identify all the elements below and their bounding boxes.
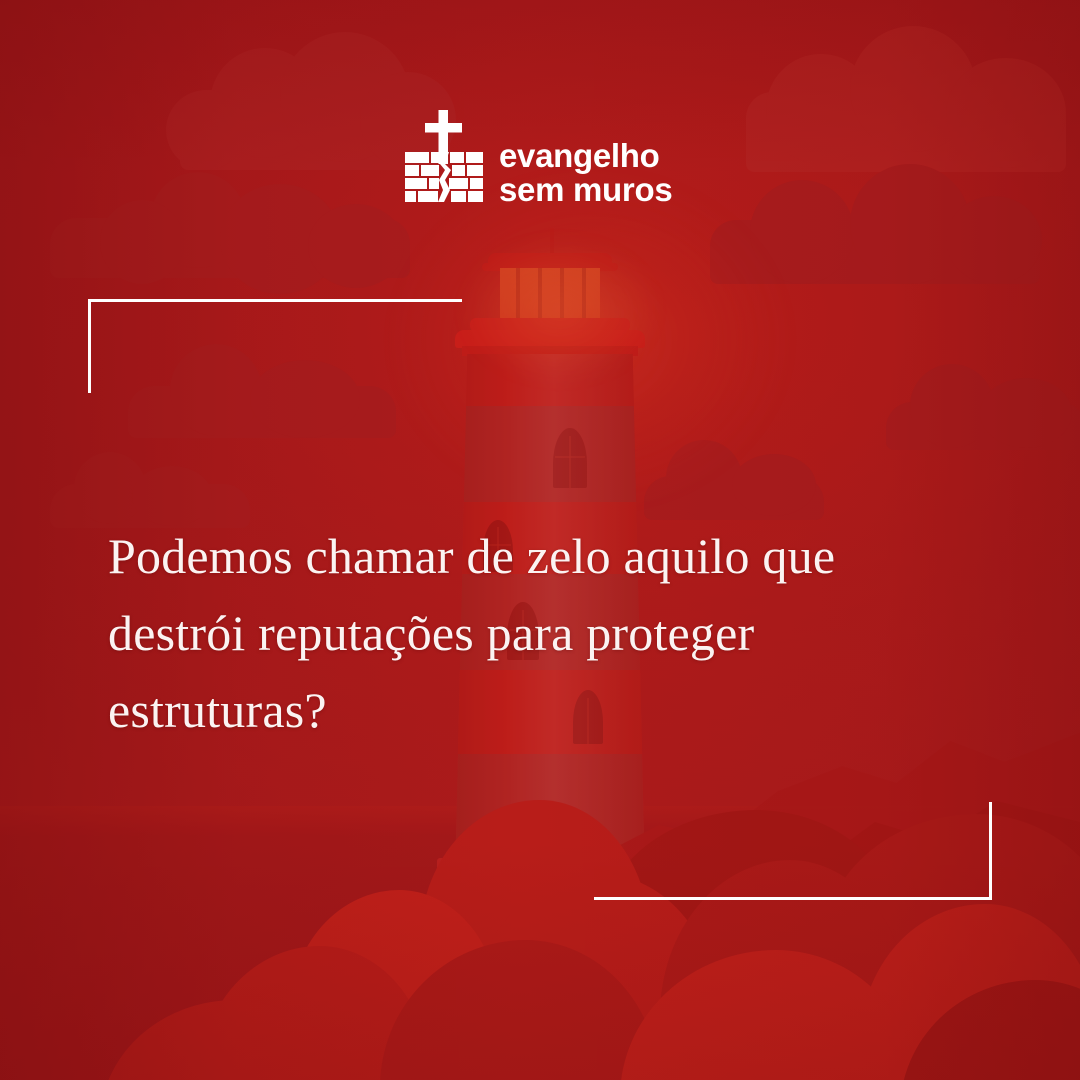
lantern-room bbox=[500, 268, 600, 320]
headline-text: Podemos chamar de zelo aquilo que destró… bbox=[108, 518, 898, 749]
lantern-roof bbox=[488, 253, 612, 269]
social-card: evangelho sem muros Podemos chamar de ze… bbox=[0, 0, 1080, 1080]
bracket-horizontal-rule bbox=[594, 897, 992, 900]
brand-logo[interactable]: evangelho sem muros bbox=[405, 108, 672, 212]
brand-wordmark: evangelho sem muros bbox=[499, 113, 672, 206]
bracket-vertical-rule bbox=[989, 802, 992, 900]
bracket-horizontal-rule bbox=[88, 299, 462, 302]
bracket-vertical-rule bbox=[88, 299, 91, 393]
brand-wordmark-line1: evangelho bbox=[499, 139, 672, 173]
corner-rule-bottom-right bbox=[594, 802, 992, 900]
corner-rule-top-left bbox=[88, 299, 462, 393]
broken-brick-wall-with-cross-icon bbox=[405, 108, 483, 212]
brand-wordmark-line2: sem muros bbox=[499, 173, 672, 207]
